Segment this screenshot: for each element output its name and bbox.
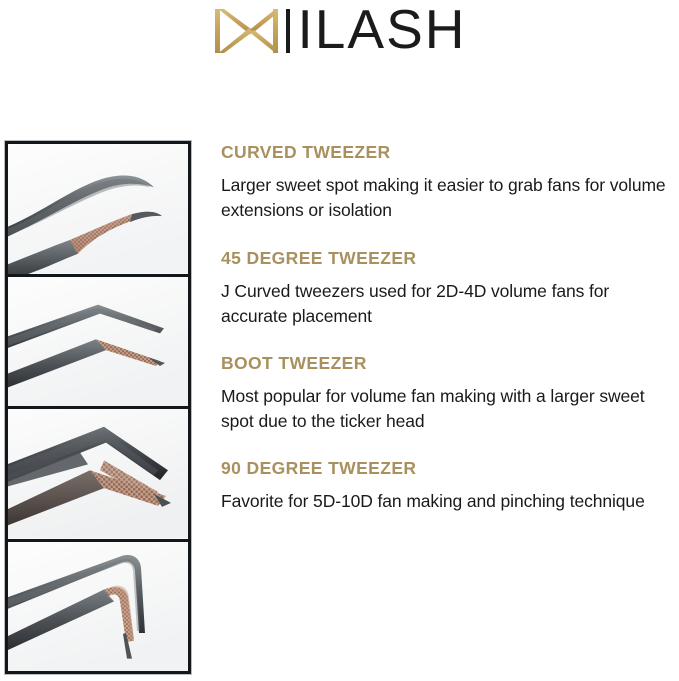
brand-header: ILASH	[0, 0, 679, 62]
entry-title-90-degree-tweezer: 90 DEGREE TWEEZER	[221, 458, 673, 480]
brand-wordmark: ILASH	[298, 2, 467, 57]
entry-body-boot-tweezer: Most popular for volume fan making with …	[221, 384, 673, 435]
list-item: 90 DEGREE TWEEZER Favorite for 5D-10D fa…	[221, 458, 673, 514]
entry-title-45-degree-tweezer: 45 DEGREE TWEEZER	[221, 248, 673, 270]
milash-m-monogram-icon	[213, 8, 297, 54]
boot-tweezer-photo	[8, 409, 188, 542]
product-infographic-page: ILASH	[0, 0, 679, 681]
entry-title-curved-tweezer: CURVED TWEEZER	[221, 142, 673, 164]
90-degree-tweezer-photo	[8, 542, 188, 672]
45-degree-tweezer-photo	[8, 277, 188, 410]
entry-body-45-degree-tweezer: J Curved tweezers used for 2D-4D volume …	[221, 279, 673, 330]
entry-title-boot-tweezer: BOOT TWEEZER	[221, 353, 673, 375]
list-item: 45 DEGREE TWEEZER J Curved tweezers used…	[221, 248, 673, 330]
curved-tweezer-photo	[8, 144, 188, 277]
list-item: BOOT TWEEZER Most popular for volume fan…	[221, 353, 673, 435]
tweezer-photo-frame	[5, 141, 191, 674]
entry-body-90-degree-tweezer: Favorite for 5D-10D fan making and pinch…	[221, 489, 673, 515]
list-item: CURVED TWEEZER Larger sweet spot making …	[221, 142, 673, 224]
tweezer-description-list: CURVED TWEEZER Larger sweet spot making …	[221, 141, 673, 514]
entry-body-curved-tweezer: Larger sweet spot making it easier to gr…	[221, 173, 673, 224]
brand-lockup: ILASH	[213, 7, 467, 55]
